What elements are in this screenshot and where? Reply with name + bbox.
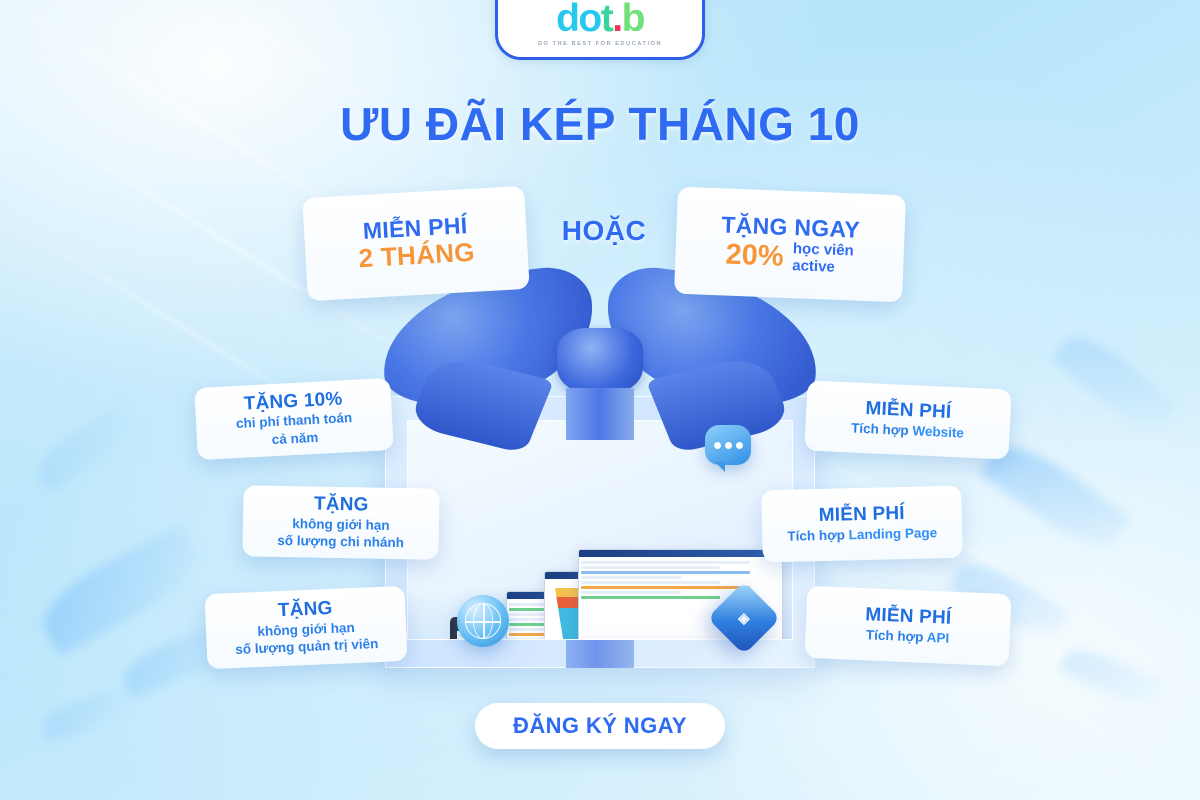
- offer-subtext-line2: cả năm: [271, 429, 318, 449]
- offer-subtext-line2: active: [792, 257, 853, 277]
- background-shard: [29, 402, 140, 493]
- background-shard: [1058, 640, 1163, 714]
- bow-knot: [557, 328, 643, 394]
- offer-connector-label: HOẶC: [548, 215, 660, 247]
- offer-subtext-highlight: Landing Page: [848, 525, 937, 542]
- brand-logo-tab: dot.b DO THE BEST FOR EDUCATION: [495, 0, 705, 60]
- offer-card-bonus-20-percent[interactable]: TẶNG NGAY 20% học viên active: [674, 187, 906, 303]
- offer-subtext-line1: không giới hạn: [292, 515, 390, 534]
- offer-card-unlimited-branches[interactable]: TẶNG không giới hạn số lượng chi nhánh: [242, 485, 439, 559]
- offer-title: TẶNG: [278, 598, 334, 622]
- logo-b-text: b: [622, 0, 644, 40]
- offer-subtext-highlight: Website: [912, 423, 964, 440]
- offer-card-free-landing-page-integration[interactable]: MIỄN PHÍ Tích hợp Landing Page: [761, 486, 963, 563]
- light-ray: [799, 542, 1200, 800]
- offer-highlight: 2 THÁNG: [358, 238, 476, 274]
- globe-icon: [457, 595, 509, 647]
- offer-subtext-line2: số lượng quản trị viên: [235, 635, 379, 659]
- chat-bubble-icon: [705, 425, 751, 465]
- offer-percent: 20%: [725, 240, 784, 271]
- offer-detail-row: 20% học viên active: [725, 237, 854, 276]
- offer-title: MIỄN PHÍ: [819, 503, 906, 527]
- background-shard: [1050, 324, 1179, 443]
- offer-subtext-prefix: Tích hợp: [787, 527, 849, 543]
- offer-subtext: Tích hợp Website: [851, 420, 965, 443]
- background-shard: [38, 687, 133, 743]
- offer-title: TẶNG: [314, 494, 369, 517]
- offer-card-free-2-months[interactable]: MIỄN PHÍ 2 THÁNG: [302, 186, 529, 301]
- offer-card-unlimited-admins[interactable]: TẶNG không giới hạn số lượng quản trị vi…: [205, 586, 408, 669]
- offer-subtext: Tích hợp API: [866, 626, 950, 647]
- logo-tagline: DO THE BEST FOR EDUCATION: [538, 42, 662, 48]
- offer-card-free-website-integration[interactable]: MIỄN PHÍ Tích hợp Website: [805, 380, 1012, 459]
- logo-wordmark: dot.b: [538, 0, 662, 38]
- offer-subtext-highlight: API: [926, 630, 949, 646]
- offer-subtext-line2: số lượng chi nhánh: [277, 532, 404, 552]
- brand-logo: dot.b DO THE BEST FOR EDUCATION: [538, 0, 662, 48]
- logo-do-text: do: [556, 0, 601, 40]
- offer-card-free-api-integration[interactable]: MIỄN PHÍ Tích hợp API: [805, 586, 1012, 666]
- promo-poster: dot.b DO THE BEST FOR EDUCATION ƯU ĐÃI K…: [0, 0, 1200, 800]
- background-shard: [31, 524, 209, 657]
- offer-subtext-prefix: Tích hợp: [851, 421, 913, 439]
- register-now-button[interactable]: ĐĂNG KÝ NGAY: [475, 703, 725, 749]
- offer-card-annual-payment-discount[interactable]: TẶNG 10% chi phí thanh toán cả năm: [194, 378, 393, 460]
- ribbon-vertical-band: [566, 388, 634, 440]
- window-titlebar: [579, 550, 782, 557]
- offer-subtext-prefix: Tích hợp: [866, 627, 927, 645]
- logo-dot-icon: .: [612, 0, 621, 40]
- logo-t-text: t: [601, 0, 613, 40]
- offer-subtext: học viên active: [792, 240, 854, 277]
- page-title: ƯU ĐÃI KÉP THÁNG 10: [0, 97, 1200, 151]
- offer-subtext: Tích hợp Landing Page: [787, 524, 937, 545]
